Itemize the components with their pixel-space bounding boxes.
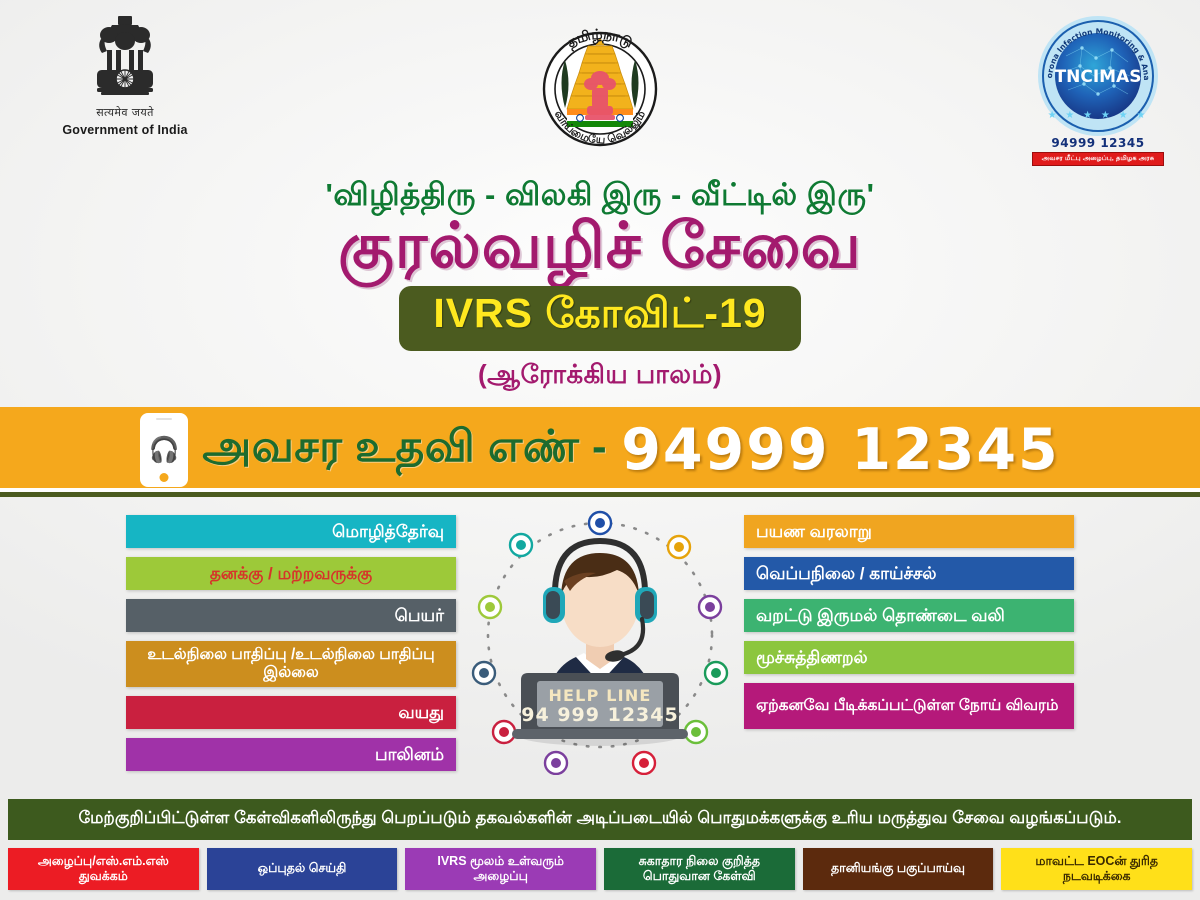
call-center-illustration: HELP LINE 94 999 12345 <box>460 507 740 775</box>
title-block: 'விழித்திரு - விலகி இரு - வீட்டில் இரு' … <box>0 175 1200 393</box>
option-bar-left-label: பாலினம் <box>375 745 444 765</box>
option-bar-left-2[interactable]: தனக்கு / மற்றவருக்கு <box>126 557 456 590</box>
poster-note: மேற்குறிப்பிட்டுள்ள கேள்விகளிலிருந்து பெ… <box>8 799 1192 840</box>
flow-step-label: ஒப்புதல் செய்தி <box>258 861 347 876</box>
page-title: குரல்வழிச் சேவை <box>0 211 1200 282</box>
laptop-helpline-title: HELP LINE <box>548 686 651 705</box>
tamil-nadu-emblem-logo: தமிழ்நாடு வாய்மையே வெல்லும் <box>525 14 675 164</box>
laptop-helpline-number: 94 999 12345 <box>521 704 678 726</box>
flow-step-label: தானியங்கு பகுப்பாய்வு <box>831 861 965 876</box>
option-bar-left-label: வயது <box>398 703 444 723</box>
flow-step-1[interactable]: அழைப்பு/எஸ்.எம்.எஸ் துவக்கம் <box>8 848 199 891</box>
option-bar-right-label: பயண வரலாறு <box>756 522 872 542</box>
option-bar-left-label: பெயர் <box>395 606 444 626</box>
flow-step-label: மாவட்ட EOCன் துரித நடவடிக்கை <box>1006 854 1187 885</box>
process-flow-strip: அழைப்பு/எஸ்.எம்.எஸ் துவக்கம்ஒப்புதல் செய… <box>0 840 1200 900</box>
ivrs-covid-poster: सत्यमेव जयते Government of India <box>0 0 1200 900</box>
option-bar-right-4[interactable]: மூச்சுத்திணறல் <box>744 641 1074 674</box>
option-bar-left-label: மொழித்தேர்வு <box>332 522 444 542</box>
tncimas-seal-icon: Tamil Nadu Corona Infection Monitoring &… <box>1036 14 1160 138</box>
option-bar-right-label: மூச்சுத்திணறல் <box>756 648 868 668</box>
options-section: மொழித்தேர்வுதனக்கு / மற்றவருக்குபெயர்உடல… <box>0 497 1200 792</box>
right-options-column: பயண வரலாறுவெப்பநிலை / காய்ச்சல்வறட்டு இர… <box>744 511 1074 729</box>
option-bar-right-label: வறட்டு இருமல் தொண்டை வலி <box>756 606 1005 626</box>
option-bar-left-5[interactable]: வயது <box>126 696 456 729</box>
goi-motto: सत्यमेव जयते <box>40 105 210 120</box>
option-bar-left-3[interactable]: பெயர் <box>126 599 456 632</box>
tncimas-number: 94999 12345 <box>1018 136 1178 150</box>
option-bar-right-label: வெப்பநிலை / காய்ச்சல் <box>756 564 937 584</box>
flow-step-6[interactable]: மாவட்ட EOCன் துரித நடவடிக்கை <box>1001 848 1192 891</box>
headset-glyph: 🎧 <box>149 438 180 463</box>
poster-tagline: 'விழித்திரு - விலகி இரு - வீட்டில் இரு' <box>0 177 1200 213</box>
option-bar-right-label: ஏற்கனவே பீடிக்கப்பட்டுள்ள நோய் விவரம் <box>756 697 1059 715</box>
option-bar-left-1[interactable]: மொழித்தேர்வு <box>126 515 456 548</box>
tncimas-acronym-text: TNCIMAS <box>1055 67 1142 87</box>
tncimas-red-banner: அவசர மீட்பு அழைப்பு, தமிழக அரசு <box>1032 152 1164 166</box>
government-of-india-logo: सत्यमेव जयते Government of India <box>40 12 210 137</box>
option-bar-right-3[interactable]: வறட்டு இருமல் தொண்டை வலி <box>744 599 1074 632</box>
flow-step-label: IVRS மூலம் உள்வரும் அழைப்பு <box>410 854 591 885</box>
flow-step-5[interactable]: தானியங்கு பகுப்பாய்வு <box>803 848 994 891</box>
poster-header: सत्यमेव जयते Government of India <box>0 0 1200 175</box>
flow-step-label: அழைப்பு/எஸ்.எம்.எஸ் துவக்கம் <box>13 854 194 885</box>
option-bar-right-5[interactable]: ஏற்கனவே பீடிக்கப்பட்டுள்ள நோய் விவரம் <box>744 683 1074 729</box>
ivrs-covid-banner: IVRS கோவிட்-19 <box>399 286 800 351</box>
goi-label: Government of India <box>40 123 210 137</box>
flow-step-2[interactable]: ஒப்புதல் செய்தி <box>207 848 398 891</box>
flow-step-3[interactable]: IVRS மூலம் உள்வரும் அழைப்பு <box>405 848 596 891</box>
flow-step-label: சுகாதார நிலை குறித்த பொதுவான கேள்வி <box>609 854 790 885</box>
mobile-phone-headset-icon: 🎧 <box>140 413 188 487</box>
helpline-band: 🎧 அவசர உதவி எண் - 94999 12345 <box>0 407 1200 497</box>
helpline-number: 94999 12345 <box>621 417 1059 483</box>
svg-text:★ ★ ★ ★ ★ ★: ★ ★ ★ ★ ★ ★ <box>1048 110 1149 121</box>
option-bar-left-label: தனக்கு / மற்றவருக்கு <box>210 564 372 584</box>
option-bar-left-6[interactable]: பாலினம் <box>126 738 456 771</box>
option-bar-right-2[interactable]: வெப்பநிலை / காய்ச்சல் <box>744 557 1074 590</box>
option-bar-right-1[interactable]: பயண வரலாறு <box>744 515 1074 548</box>
tamil-nadu-state-emblem-icon: தமிழ்நாடு வாய்மையே வெல்லும் <box>525 14 675 164</box>
ashoka-lion-capital-emblem-icon <box>88 12 162 104</box>
tncimas-logo: Tamil Nadu Corona Infection Monitoring &… <box>1018 14 1178 166</box>
left-options-column: மொழித்தேர்வுதனக்கு / மற்றவருக்குபெயர்உடல… <box>126 511 456 771</box>
option-bar-left-label: உடல்நிலை பாதிப்பு /உடல்நிலை பாதிப்பு இல்… <box>138 646 444 683</box>
poster-subtitle: (ஆரோக்கிய பாலம்) <box>0 359 1200 393</box>
call-center-agent-with-headset-icon: HELP LINE 94 999 12345 <box>460 507 740 775</box>
flow-step-4[interactable]: சுகாதார நிலை குறித்த பொதுவான கேள்வி <box>604 848 795 891</box>
helpline-label: அவசர உதவி எண் - <box>202 422 607 478</box>
option-bar-left-4[interactable]: உடல்நிலை பாதிப்பு /உடல்நிலை பாதிப்பு இல்… <box>126 641 456 687</box>
